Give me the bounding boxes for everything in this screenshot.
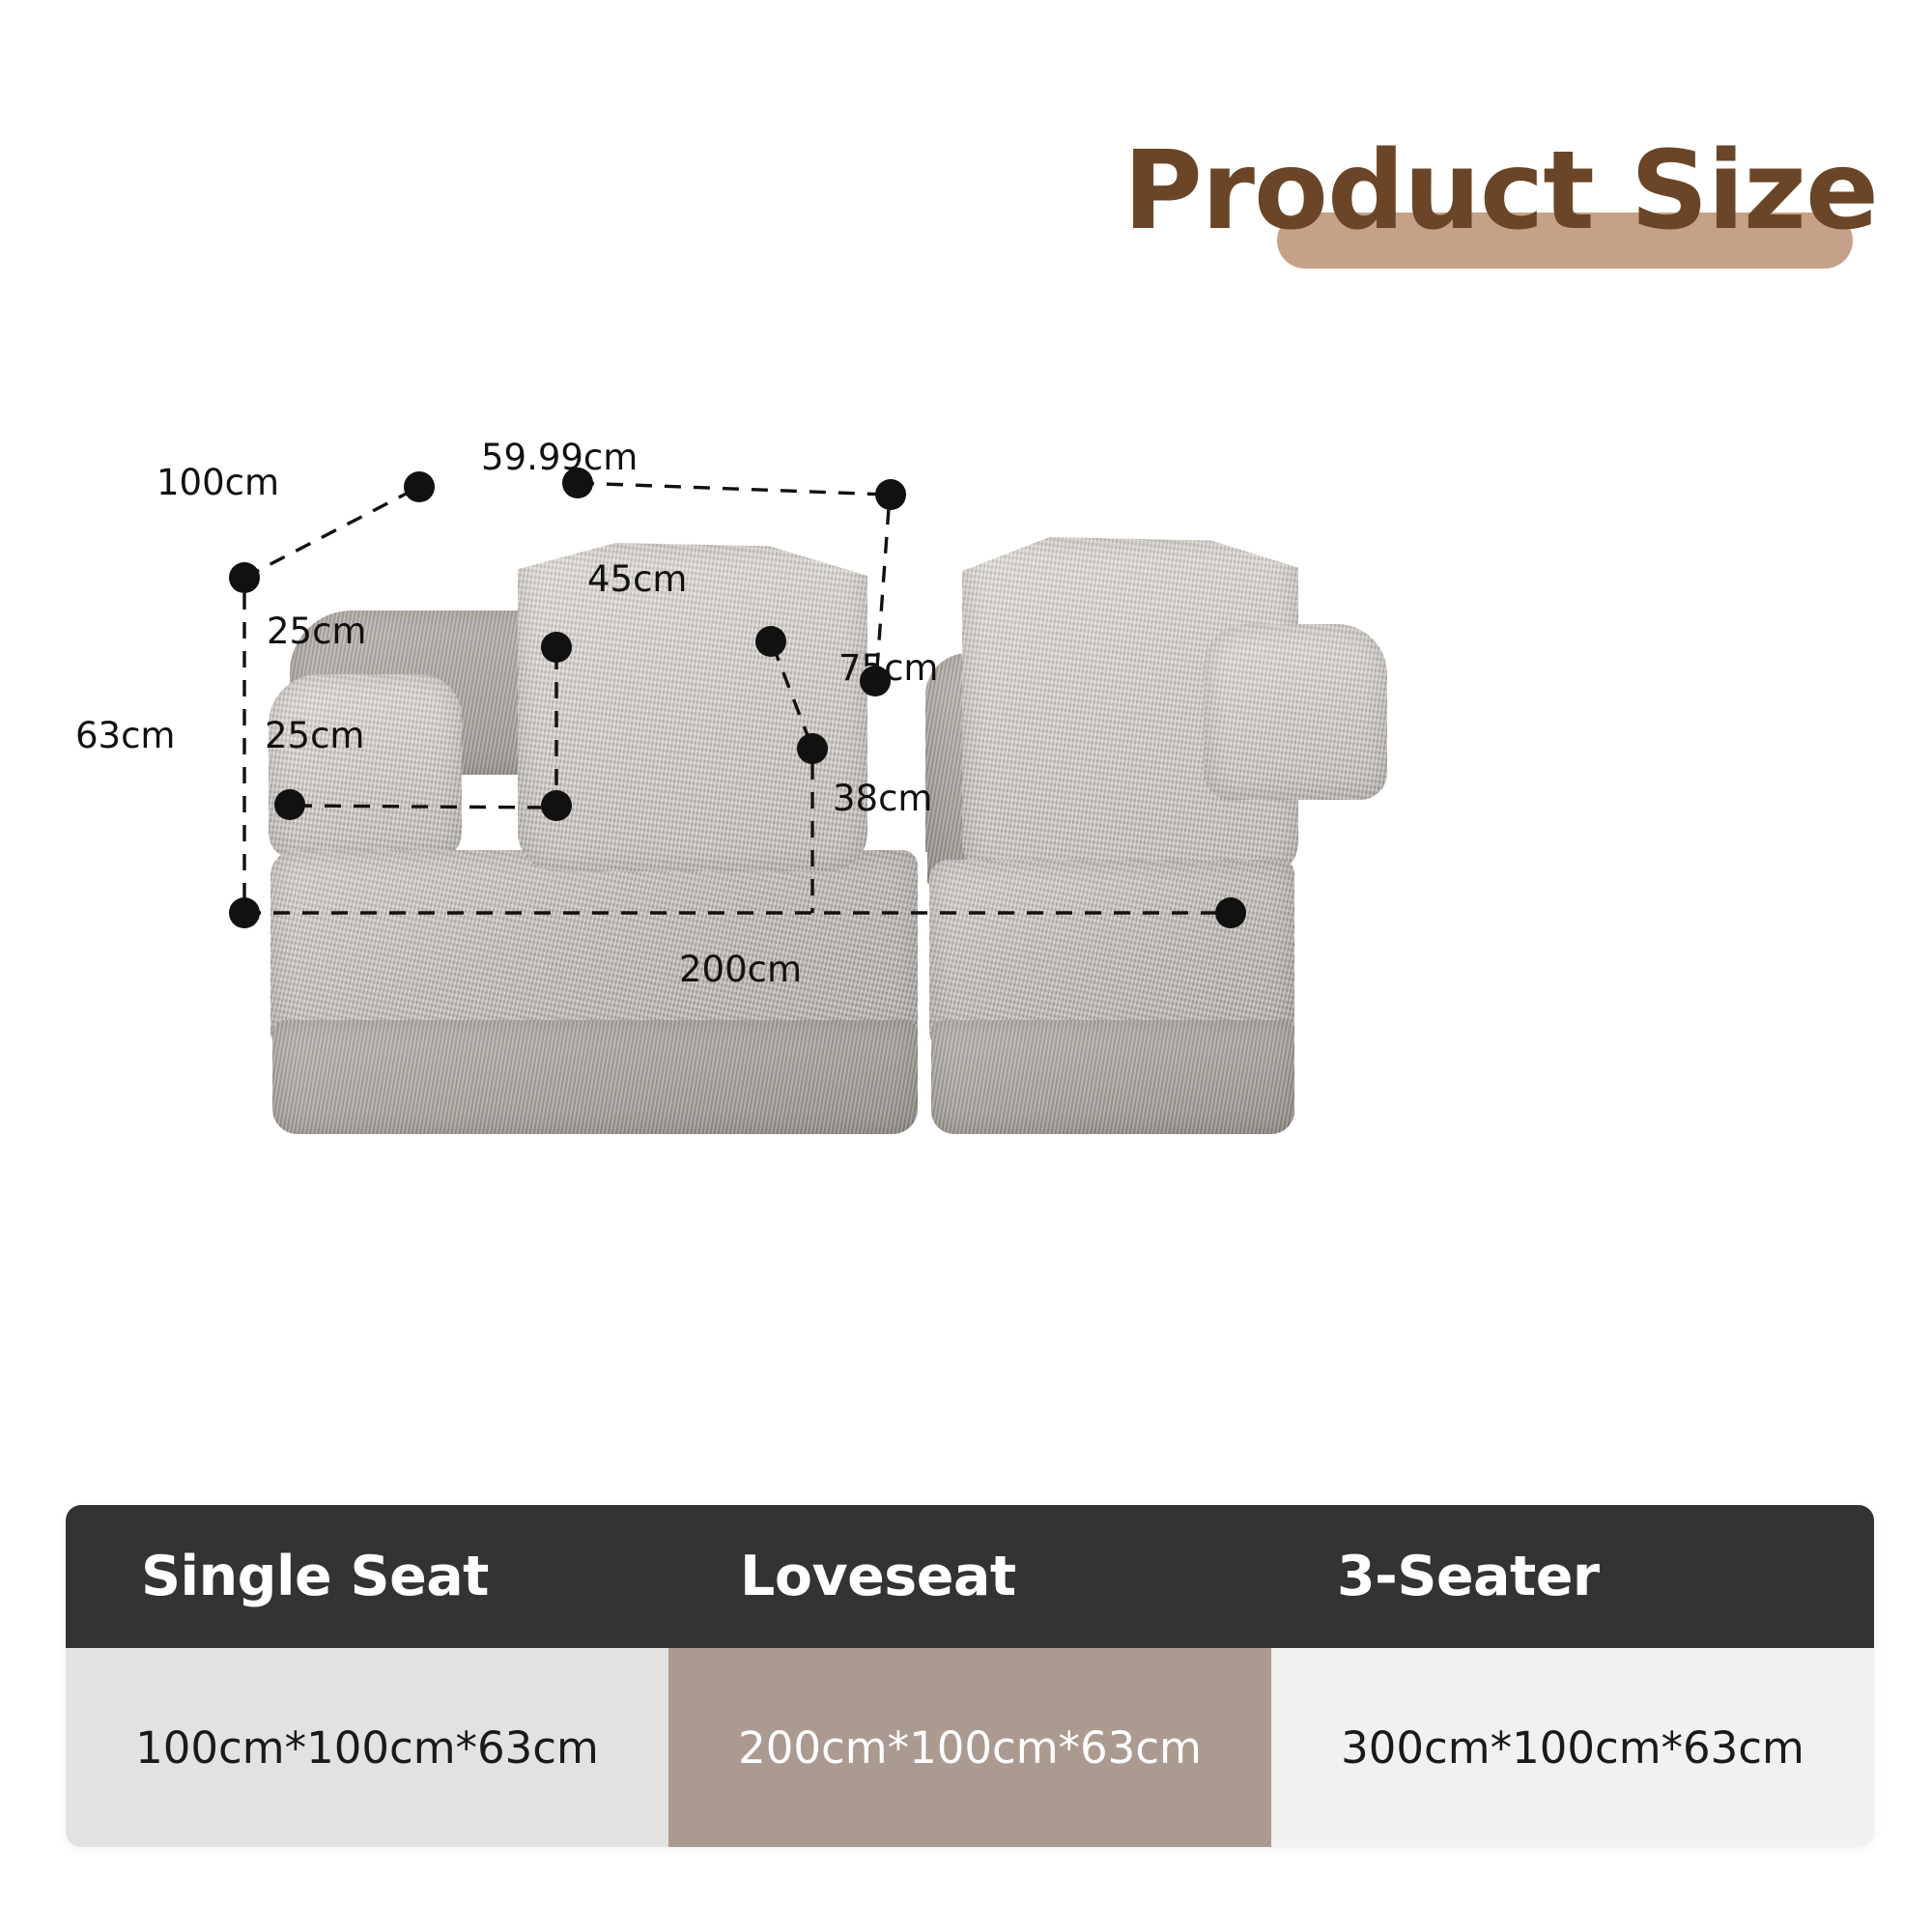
dim-label-total-height: 63cm <box>75 715 175 756</box>
table-cell-single-seat-size: 100cm*100cm*63cm <box>66 1648 668 1847</box>
sofa-right-arm <box>1204 624 1387 800</box>
page-title: Product Size <box>1123 114 1878 269</box>
dim-label-seat-height: 38cm <box>833 778 932 819</box>
module-seam <box>920 852 927 1134</box>
table-cell-3-seater-size: 300cm*100cm*63cm <box>1271 1648 1874 1847</box>
table-header-single-seat: Single Seat <box>66 1505 678 1648</box>
sofa-left-arm <box>269 674 462 860</box>
sofa-left-base <box>272 1020 918 1134</box>
dim-label-pillow-height: 45cm <box>587 558 687 600</box>
table-header-3-seater: 3-Seater <box>1277 1505 1874 1648</box>
dim-label-total-width: 200cm <box>679 949 802 990</box>
sofa-image <box>232 483 1275 1101</box>
table-cell-loveseat-size: 200cm*100cm*63cm <box>668 1648 1271 1847</box>
sofa-left-pillow <box>518 543 867 871</box>
product-illustration: .dl { stroke:#111; stroke-width:3.4; fil… <box>0 386 1642 1256</box>
dim-label-seat-depth: 75cm <box>838 647 938 689</box>
sofa-left-seat <box>270 850 918 1043</box>
sofa-right-base <box>931 1020 1294 1134</box>
page-title-block: Product Size <box>862 114 1886 278</box>
table-header-loveseat: Loveseat <box>678 1505 1277 1648</box>
dim-label-pillow-width: 59.99cm <box>481 437 638 478</box>
size-comparison-table: Single Seat Loveseat 3-Seater 100cm*100c… <box>66 1505 1874 1847</box>
table-header-row: Single Seat Loveseat 3-Seater <box>66 1505 1874 1648</box>
table-value-row: 100cm*100cm*63cm 200cm*100cm*63cm 300cm*… <box>66 1648 1874 1847</box>
dim-label-arm-width: 25cm <box>265 715 364 756</box>
dim-label-arm-height: 25cm <box>267 611 366 652</box>
sofa-right-seat <box>929 860 1294 1043</box>
dim-label-depth: 100cm <box>156 462 279 503</box>
